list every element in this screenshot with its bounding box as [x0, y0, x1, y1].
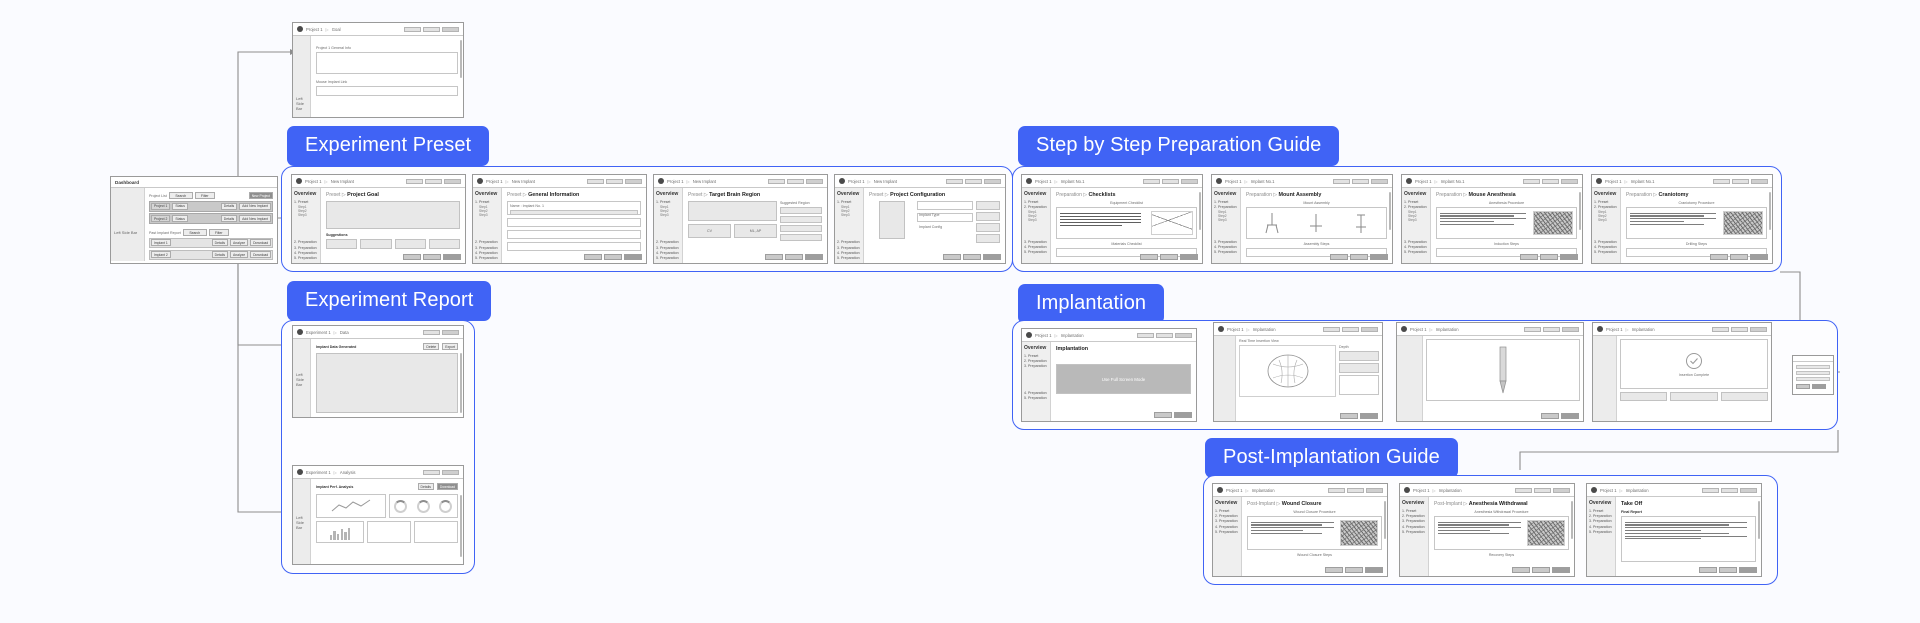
sidebar[interactable]: Overview 1. Preset Step1 Step2 Step3 2. …: [654, 188, 683, 263]
card-prep-mount-assembly[interactable]: Project 1 ▷ Implant No.1 Overview 1. Pre…: [1211, 174, 1393, 264]
sidebar-item-preparation[interactable]: 2. Preparation: [1594, 205, 1618, 209]
info-field[interactable]: [507, 242, 641, 251]
sidebar-item-prep-4[interactable]: 4. Preparation: [1024, 391, 1048, 395]
sidebar-item-prep-2[interactable]: 2. Preparation: [656, 240, 680, 244]
chevron-right-icon: ▷: [1246, 488, 1249, 493]
crumb-project: Project 1: [1035, 179, 1052, 184]
sidebar-item-prep-4[interactable]: 4. Preparation: [475, 251, 499, 255]
implant-search-button[interactable]: Search: [183, 229, 207, 236]
coordinate-mlap[interactable]: ML, AP: [734, 224, 777, 238]
cancel-button[interactable]: [1160, 254, 1178, 260]
previous-button[interactable]: [1330, 254, 1348, 260]
previous-button[interactable]: [1699, 567, 1717, 573]
card-prep-mouse-anesthesia[interactable]: Project 1 ▷ Implant No.1 Overview 1. Pre…: [1401, 174, 1583, 264]
cancel-button[interactable]: [1719, 567, 1737, 573]
table-row[interactable]: Project 2 Status Details Add New Implant: [149, 213, 273, 224]
sidebar[interactable]: Overview 1. Preset 2. Preparation 3. Pre…: [1587, 497, 1616, 576]
sidebar-item-prep-5[interactable]: 5. Preparation: [837, 256, 861, 260]
download-button[interactable]: Download: [437, 483, 458, 490]
scrollbar[interactable]: [1199, 192, 1201, 230]
suggested-region-item[interactable]: [780, 207, 822, 214]
sidebar[interactable]: Overview 1. Preset 2. Preparation 3. Pre…: [1400, 497, 1429, 576]
sidebar-item-prep-4[interactable]: 4. Preparation: [1215, 525, 1239, 529]
sidebar-item-prep-3[interactable]: 3. Preparation: [475, 246, 499, 250]
sidebar-item-prep-5[interactable]: 5. Preparation: [294, 256, 318, 260]
titlebar-button[interactable]: [1162, 179, 1179, 184]
titlebar-button-primary[interactable]: [806, 179, 823, 184]
card-experiment-analysis[interactable]: Experiment 1 ▷ Analysis Left Side Bar Im…: [292, 465, 464, 565]
titlebar-button[interactable]: [406, 179, 423, 184]
summary-tile[interactable]: [1670, 392, 1717, 401]
sidebar-item-prep-4[interactable]: 4. Preparation: [656, 251, 680, 255]
sidebar-item-preset[interactable]: 1. Preset: [1404, 200, 1428, 204]
implant-analyze-button[interactable]: Analyze: [230, 239, 248, 246]
sidebar-item-prep-4[interactable]: 4. Preparation: [294, 251, 318, 255]
sidebar[interactable]: Overview 1. Preset 2. Preparation 3. Pre…: [1022, 342, 1051, 421]
sidebar-title: Overview: [1404, 191, 1428, 197]
next-button[interactable]: [1560, 254, 1578, 260]
input-general-info[interactable]: [316, 52, 458, 74]
sidebar[interactable]: [1593, 336, 1617, 421]
previous-button[interactable]: [403, 254, 421, 260]
sidebar[interactable]: Overview 1. Preset Step1 Step2 Step3 2. …: [835, 188, 864, 263]
depth-slider[interactable]: [1339, 375, 1379, 395]
sidebar-item-prep-5[interactable]: 5. Preparation: [1215, 530, 1239, 534]
scrollbar[interactable]: [1579, 192, 1581, 230]
project-add-implant-button[interactable]: Add New Implant: [239, 215, 271, 222]
sidebar-item-prep-3[interactable]: 3. Preparation: [1404, 240, 1428, 244]
titlebar-button[interactable]: [1352, 179, 1369, 184]
card-preset-project-goal[interactable]: Project 1 ▷ New Implant Overview 1. Pres…: [291, 174, 466, 264]
chevron-right-icon: ▷: [342, 192, 346, 198]
sidebar[interactable]: Overview 1. Preset 2. Preparation 3. Pre…: [1213, 497, 1242, 576]
popover-button[interactable]: [1796, 384, 1810, 389]
next-button[interactable]: [1750, 254, 1768, 260]
sidebar-item-prep-3[interactable]: 3. Preparation: [1214, 240, 1238, 244]
titlebar-button-primary[interactable]: [1553, 488, 1570, 493]
app-dot-icon: [297, 26, 303, 32]
scrollbar[interactable]: [1389, 192, 1391, 230]
sidebar-item-prep-3[interactable]: 3. Preparation: [837, 246, 861, 250]
sidebar-item-prep-5[interactable]: 5. Preparation: [1214, 250, 1238, 254]
sidebar-item-preset[interactable]: 1. Preset: [475, 200, 499, 204]
fullscreen-cta-panel[interactable]: Use Full Screen Mode: [1056, 364, 1191, 394]
titlebar-button[interactable]: [1347, 488, 1364, 493]
sidebar-item-prep-4[interactable]: 4. Preparation: [837, 251, 861, 255]
delete-button[interactable]: Delete: [423, 343, 439, 350]
sidebar[interactable]: Left Side Bar: [293, 339, 311, 417]
implant-type-field[interactable]: Implant Type: [917, 201, 973, 210]
cancel-button[interactable]: [423, 254, 441, 260]
next-button[interactable]: [1370, 254, 1388, 260]
metric-panel[interactable]: [414, 521, 458, 543]
titlebar-button-primary[interactable]: [1562, 327, 1579, 332]
sidebar-item-prep-4[interactable]: 4. Preparation: [1404, 245, 1428, 249]
sidebar-item-preparation[interactable]: 2. Preparation: [1404, 205, 1428, 209]
sidebar-item-prep-4[interactable]: 4. Preparation: [1402, 525, 1426, 529]
card-post-wound-closure[interactable]: Project 1 ▷ Implantation Overview 1. Pre…: [1212, 483, 1388, 577]
card-content: Preset ▷ Project Goal Suggestions: [321, 188, 465, 263]
sidebar-item-preset[interactable]: 1. Preset: [1594, 200, 1618, 204]
project-search-button[interactable]: Search: [169, 192, 193, 199]
titlebar-button[interactable]: [1515, 488, 1532, 493]
summary-tile[interactable]: [1620, 392, 1667, 401]
titlebar-button-primary[interactable]: [1751, 179, 1768, 184]
card-implantation-complete[interactable]: Project 1 ▷ Implantation Insertion Compl…: [1592, 322, 1772, 422]
sidebar-item-prep-4[interactable]: 4. Preparation: [1594, 245, 1618, 249]
titlebar-button[interactable]: [1143, 179, 1160, 184]
card-experiment-data[interactable]: Experiment 1 ▷ Data Left Side Bar Implan…: [292, 325, 464, 418]
sidebar-item-prep-5[interactable]: 5. Preparation: [1594, 250, 1618, 254]
previous-button[interactable]: [1340, 413, 1358, 419]
scrollbar[interactable]: [460, 353, 462, 413]
implant-type-visual[interactable]: [879, 201, 905, 239]
sidebar-item-prep-3[interactable]: 3. Preparation: [1024, 240, 1048, 244]
scrollbar[interactable]: [460, 495, 462, 557]
titlebar-button-primary[interactable]: [444, 179, 461, 184]
cancel-button[interactable]: [604, 254, 622, 260]
sidebar-item-prep-5[interactable]: 5. Preparation: [1024, 396, 1048, 400]
chevron-right-icon: ▷: [1083, 192, 1087, 198]
titlebar-button[interactable]: [1333, 179, 1350, 184]
card-footer: [1140, 254, 1198, 260]
previous-button[interactable]: [1140, 254, 1158, 260]
preview-item[interactable]: [976, 234, 1000, 243]
breadcrumb-current: Wound Closure: [1282, 501, 1322, 507]
previous-button[interactable]: [1154, 412, 1172, 418]
sidebar-item-preset[interactable]: 1. Preset: [1589, 509, 1613, 513]
previous-button[interactable]: [1325, 567, 1343, 573]
titlebar-button[interactable]: [1328, 488, 1345, 493]
titlebar-button[interactable]: [787, 179, 804, 184]
card-titlebar: Project 1 ▷ New Implant: [654, 175, 827, 188]
breadcrumb: Post-Implant ▷ Wound Closure: [1247, 501, 1382, 507]
sidebar-item-prep-3[interactable]: 3. Preparation: [294, 246, 318, 250]
scrollbar[interactable]: [1769, 192, 1771, 230]
input-mouse-link[interactable]: [316, 86, 458, 96]
titlebar-button[interactable]: [768, 179, 785, 184]
sidebar-title: Overview: [1589, 500, 1613, 506]
app-dot-icon: [658, 178, 664, 184]
titlebar-button-primary[interactable]: [442, 330, 459, 335]
crumb-page: Implant No.1: [1441, 179, 1465, 184]
sidebar-item-prep-5[interactable]: 5. Preparation: [656, 256, 680, 260]
sidebar-item-prep-4[interactable]: 4. Preparation: [1589, 525, 1613, 529]
sidebar[interactable]: Overview 1. Preset Step1 Step2 Step3 2. …: [473, 188, 502, 263]
probe-insertion-view[interactable]: [1426, 339, 1580, 401]
previous-button[interactable]: [765, 254, 783, 260]
dashboard-title: Dashboard: [115, 180, 139, 185]
implant-details-button[interactable]: Details: [212, 251, 228, 258]
sidebar-item-prep-3[interactable]: 3. Preparation: [1024, 364, 1048, 368]
titlebar-button-primary[interactable]: [625, 179, 642, 184]
sidebar-item-prep-5[interactable]: 5. Preparation: [1402, 530, 1426, 534]
checklist-items[interactable]: [1060, 211, 1148, 235]
implant-download-button[interactable]: Download: [250, 239, 271, 246]
scrollbar[interactable]: [460, 40, 462, 78]
card-prep-craniotomy[interactable]: Project 1 ▷ Implant No.1 Overview 1. Pre…: [1591, 174, 1773, 264]
table-row[interactable]: Implant 1 Details Analyze Download: [149, 238, 273, 249]
craniotomy-procedure-title: Craniotomy Procedure: [1626, 201, 1767, 205]
previous-button[interactable]: [1512, 567, 1530, 573]
previous-button[interactable]: [1541, 413, 1559, 419]
cancel-button[interactable]: [963, 254, 981, 260]
preview-item[interactable]: [976, 201, 1000, 210]
titlebar-button[interactable]: [1732, 179, 1749, 184]
suggestion-chip[interactable]: [395, 239, 426, 249]
sidebar-item-preset[interactable]: 1. Preset: [837, 200, 861, 204]
titlebar-button[interactable]: [1721, 488, 1738, 493]
sidebar-item-prep-5[interactable]: 5. Preparation: [1404, 250, 1428, 254]
sidebar-item-preset[interactable]: 1. Preset: [1024, 200, 1048, 204]
suggestion-chip[interactable]: [429, 239, 460, 249]
preview-item[interactable]: [976, 212, 1000, 221]
sidebar-item-prep-2[interactable]: 2. Preparation: [837, 240, 861, 244]
project-details-button[interactable]: Details: [221, 203, 237, 210]
sidebar-item-prep-2[interactable]: 2. Preparation: [475, 240, 499, 244]
implant-details-button[interactable]: Details: [212, 239, 228, 246]
card-implantation-insertion-view[interactable]: Project 1 ▷ Implantation Real Time Inser…: [1213, 322, 1383, 422]
next-button[interactable]: [1365, 567, 1383, 573]
sidebar[interactable]: Overview 1. Preset 2. Preparation Step1 …: [1212, 188, 1241, 263]
cancel-button[interactable]: [1540, 254, 1558, 260]
titlebar-button[interactable]: [1137, 333, 1154, 338]
next-button[interactable]: [1174, 412, 1192, 418]
info-field[interactable]: [507, 230, 641, 239]
titlebar-button-primary[interactable]: [442, 27, 459, 32]
next-button[interactable]: [1360, 413, 1378, 419]
procedure-text: [1440, 211, 1530, 235]
titlebar-button[interactable]: [1731, 327, 1748, 332]
titlebar-button[interactable]: [606, 179, 623, 184]
sidebar[interactable]: Overview 1. Preset 2. Preparation Step1 …: [1022, 188, 1051, 263]
chevron-right-icon: ▷: [1430, 327, 1433, 332]
sidebar-item-prep-3[interactable]: 3. Preparation: [1594, 240, 1618, 244]
implant-config-field[interactable]: Implant Config: [917, 213, 973, 222]
suggested-region-item[interactable]: [780, 216, 822, 223]
titlebar-button[interactable]: [1702, 488, 1719, 493]
titlebar-button[interactable]: [1712, 327, 1729, 332]
titlebar-button[interactable]: [1713, 179, 1730, 184]
sidebar-item-prep-2[interactable]: 2. Preparation: [294, 240, 318, 244]
titlebar-button[interactable]: [423, 27, 440, 32]
titlebar-button[interactable]: [965, 179, 982, 184]
sidebar-item-preset[interactable]: 1. Preset: [656, 200, 680, 204]
name-field-wrapper[interactable]: Name : Implant No. 1: [507, 201, 641, 215]
cancel-button[interactable]: [1730, 254, 1748, 260]
sidebar-item-preset[interactable]: 1. Preset: [1214, 200, 1238, 204]
titlebar-button-primary[interactable]: [984, 179, 1001, 184]
next-button[interactable]: [983, 254, 1001, 260]
sidebar-item-prep-3[interactable]: 3. Preparation: [1215, 519, 1239, 523]
titlebar-button[interactable]: [1156, 333, 1173, 338]
name-input[interactable]: [510, 210, 638, 215]
sidebar-title: Overview: [837, 191, 861, 197]
sidebar-item-preset[interactable]: 1. Preset: [1215, 509, 1239, 513]
titlebar-button[interactable]: [1534, 488, 1551, 493]
titlebar-button[interactable]: [587, 179, 604, 184]
sidebar-item-prep-4[interactable]: 4. Preparation: [1214, 245, 1238, 249]
titlebar-button[interactable]: [425, 179, 442, 184]
suggested-region-label: Suggested Region: [780, 201, 822, 205]
chart-trend[interactable]: [316, 494, 386, 518]
project-filter-button[interactable]: Filter: [195, 192, 215, 199]
titlebar-button-primary[interactable]: [1750, 327, 1767, 332]
next-button[interactable]: [805, 254, 823, 260]
sidebar-item-prep-3[interactable]: 3. Preparation: [1402, 519, 1426, 523]
dashboard-sidebar[interactable]: Left Side Bar: [111, 188, 145, 261]
titlebar-button-primary[interactable]: [1181, 179, 1198, 184]
breadcrumb-current: Mouse Anesthesia: [1469, 192, 1516, 198]
titlebar-button-primary[interactable]: [1561, 179, 1578, 184]
titlebar-button-primary[interactable]: [442, 470, 459, 475]
project-details-button[interactable]: Details: [221, 215, 237, 222]
cancel-button[interactable]: [1345, 567, 1363, 573]
sidebar[interactable]: Overview 1. Preset 2. Preparation Step1 …: [1402, 188, 1431, 263]
card-prep-checklists[interactable]: Project 1 ▷ Implant No.1 Overview 1. Pre…: [1021, 174, 1203, 264]
scrollbar[interactable]: [1758, 501, 1760, 539]
sidebar[interactable]: Left Side Bar: [293, 479, 311, 564]
card-dashboard[interactable]: Dashboard Left Side Bar Project List Sea…: [110, 176, 278, 264]
titlebar-button[interactable]: [423, 470, 440, 475]
table-row[interactable]: Project 1 Status Details Add New Implant: [149, 201, 273, 212]
project-name: Project 1: [151, 203, 170, 210]
next-button[interactable]: [443, 254, 461, 260]
crumb-project: Project 1: [486, 179, 503, 184]
cancel-button[interactable]: [1532, 567, 1550, 573]
project-add-implant-button[interactable]: Add New Implant: [239, 203, 271, 210]
metric-panel[interactable]: [367, 521, 411, 543]
previous-button[interactable]: [943, 254, 961, 260]
previous-button[interactable]: [1710, 254, 1728, 260]
sidebar-item-preparation[interactable]: 2. Preparation: [1589, 514, 1613, 518]
card-titlebar: Experiment 1 ▷ Data: [293, 326, 463, 339]
summary-tile[interactable]: [1721, 392, 1768, 401]
next-button[interactable]: [1552, 567, 1570, 573]
suggested-region-item[interactable]: [780, 234, 822, 241]
sidebar-item-prep-3[interactable]: 3. Preparation: [1589, 519, 1613, 523]
sidebar-item-prep-4[interactable]: 4. Preparation: [1024, 245, 1048, 249]
sidebar-item-preparation[interactable]: 2. Preparation: [1024, 359, 1048, 363]
info-field[interactable]: [507, 218, 641, 227]
sidebar-item-preparation[interactable]: 2. Preparation: [1402, 514, 1426, 518]
scrollbar[interactable]: [1384, 501, 1386, 539]
next-button[interactable]: [1561, 413, 1579, 419]
popover-primary-button[interactable]: [1812, 384, 1826, 389]
next-button[interactable]: [1739, 567, 1757, 573]
previous-button[interactable]: [584, 254, 602, 260]
preview-item[interactable]: [976, 223, 1000, 232]
card-preset-general-information[interactable]: Project 1 ▷ New Implant Overview 1. Pres…: [472, 174, 647, 264]
titlebar-button[interactable]: [423, 330, 440, 335]
card-preset-target-brain-region[interactable]: Project 1 ▷ New Implant Overview 1. Pres…: [653, 174, 828, 264]
details-button[interactable]: Details: [418, 483, 434, 490]
titlebar-button[interactable]: [1342, 327, 1359, 332]
sidebar[interactable]: [1214, 336, 1236, 421]
brain-region-visual[interactable]: [688, 201, 777, 221]
titlebar-button-primary[interactable]: [1740, 488, 1757, 493]
card-content: Preset ▷ Project Configuration Implant T…: [864, 188, 1005, 263]
sidebar-item-prep-3[interactable]: 3. Preparation: [656, 246, 680, 250]
chevron-right-icon: ▷: [1247, 327, 1250, 332]
sidebar-item-prep-5[interactable]: 5. Preparation: [1024, 250, 1048, 254]
chart-donuts[interactable]: [389, 494, 459, 518]
sidebar-item-preparation[interactable]: 2. Preparation: [1024, 205, 1048, 209]
card-implantation-summary-popover[interactable]: [1792, 355, 1834, 395]
suggestion-chip[interactable]: [326, 239, 357, 249]
section-label-experiment-report: Experiment Report: [287, 281, 491, 321]
card-implantation-probe-insertion[interactable]: Project 1 ▷ Implantation: [1396, 322, 1584, 422]
titlebar-button[interactable]: [1524, 327, 1541, 332]
implant-analyze-button[interactable]: Analyze: [230, 251, 248, 258]
previous-button[interactable]: [1520, 254, 1538, 260]
equipment-checklist-panel: [1056, 207, 1197, 239]
probe-icon: [1491, 345, 1515, 395]
scrollbar[interactable]: [1571, 501, 1573, 539]
sidebar-title: Overview: [656, 191, 680, 197]
section-label-step-by-step-preparation-guide: Step by Step Preparation Guide: [1018, 126, 1339, 166]
sidebar[interactable]: Left Side Bar: [293, 36, 311, 117]
export-button[interactable]: Export: [442, 343, 458, 350]
next-button[interactable]: [624, 254, 642, 260]
next-button[interactable]: [1180, 254, 1198, 260]
sidebar[interactable]: Overview 1. Preset Step1 Step2 Step3 2. …: [292, 188, 321, 263]
sidebar-item-preset[interactable]: 1. Preset: [1402, 509, 1426, 513]
titlebar-button[interactable]: [1523, 179, 1540, 184]
titlebar-button-primary[interactable]: [1366, 488, 1383, 493]
sidebar-item-preparation[interactable]: 2. Preparation: [1214, 205, 1238, 209]
sidebar-item-preset[interactable]: 1. Preset: [1024, 354, 1048, 358]
implant-report-title: Past Implant Report: [149, 231, 181, 235]
new-project-button[interactable]: New Project: [249, 192, 273, 199]
chart-bars[interactable]: [316, 521, 364, 543]
sidebar[interactable]: [1397, 336, 1423, 421]
titlebar-button-primary[interactable]: [1361, 327, 1378, 332]
sidebar-item-prep-5[interactable]: 5. Preparation: [1589, 530, 1613, 534]
sidebar-item-preparation[interactable]: 2. Preparation: [1215, 514, 1239, 518]
coordinate-cv[interactable]: CV: [688, 224, 731, 238]
card-implantation-start[interactable]: Project 1 ▷ Implantation Overview 1. Pre…: [1021, 328, 1197, 422]
cancel-button[interactable]: [1350, 254, 1368, 260]
titlebar-button-primary[interactable]: [1175, 333, 1192, 338]
card-post-anesthesia-withdrawal[interactable]: Project 1 ▷ Implantation Overview 1. Pre…: [1399, 483, 1575, 577]
titlebar-button[interactable]: [1323, 327, 1340, 332]
suggestion-chip[interactable]: [360, 239, 391, 249]
sidebar-label: Left Side Bar: [296, 96, 310, 111]
field-label-general-info: Project 1 General Info: [316, 46, 458, 50]
titlebar-button[interactable]: [1543, 327, 1560, 332]
sidebar-item-preset[interactable]: 1. Preset: [294, 200, 318, 204]
titlebar-button-primary[interactable]: [1371, 179, 1388, 184]
sidebar[interactable]: Overview 1. Preset 2. Preparation Step1 …: [1592, 188, 1621, 263]
goal-textarea[interactable]: [326, 201, 460, 229]
titlebar-button[interactable]: [1542, 179, 1559, 184]
card-project-goal[interactable]: Project 1 ▷ Goal Left Side Bar Project 1…: [292, 22, 464, 118]
chevron-right-icon: ▷: [1433, 488, 1436, 493]
suggested-region-item[interactable]: [780, 225, 822, 232]
card-preset-project-configuration[interactable]: Project 1 ▷ New Implant Overview 1. Pres…: [834, 174, 1006, 264]
titlebar-button[interactable]: [404, 27, 421, 32]
implant-filter-button[interactable]: Filter: [209, 229, 229, 236]
titlebar-button[interactable]: [946, 179, 963, 184]
table-row[interactable]: Implant 2 Details Analyze Download: [149, 250, 273, 261]
brain-atlas-view[interactable]: [1239, 345, 1336, 397]
card-post-take-off[interactable]: Project 1 ▷ Implantation Overview 1. Pre…: [1586, 483, 1762, 577]
sidebar-item-prep-5[interactable]: 5. Preparation: [475, 256, 499, 260]
implant-download-button[interactable]: Download: [250, 251, 271, 258]
cancel-button[interactable]: [785, 254, 803, 260]
data-table[interactable]: [316, 353, 458, 413]
